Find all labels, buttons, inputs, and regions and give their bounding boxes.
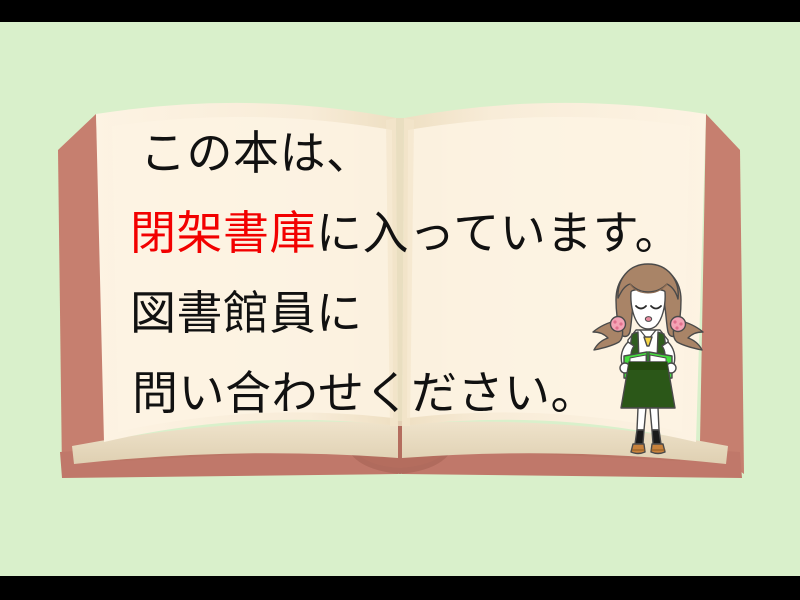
letterbox-bottom bbox=[0, 576, 800, 600]
hairtie-right bbox=[671, 317, 686, 332]
hairtie-left bbox=[611, 317, 626, 332]
letterbox-top bbox=[0, 0, 800, 22]
screenshot-canvas: この本は、 閉架書庫に入っています。 図書館員に 問い合わせください。 bbox=[0, 0, 800, 600]
girl-reading-illustration bbox=[588, 258, 708, 458]
book-page-left bbox=[96, 103, 398, 442]
book-gutter bbox=[386, 118, 414, 426]
